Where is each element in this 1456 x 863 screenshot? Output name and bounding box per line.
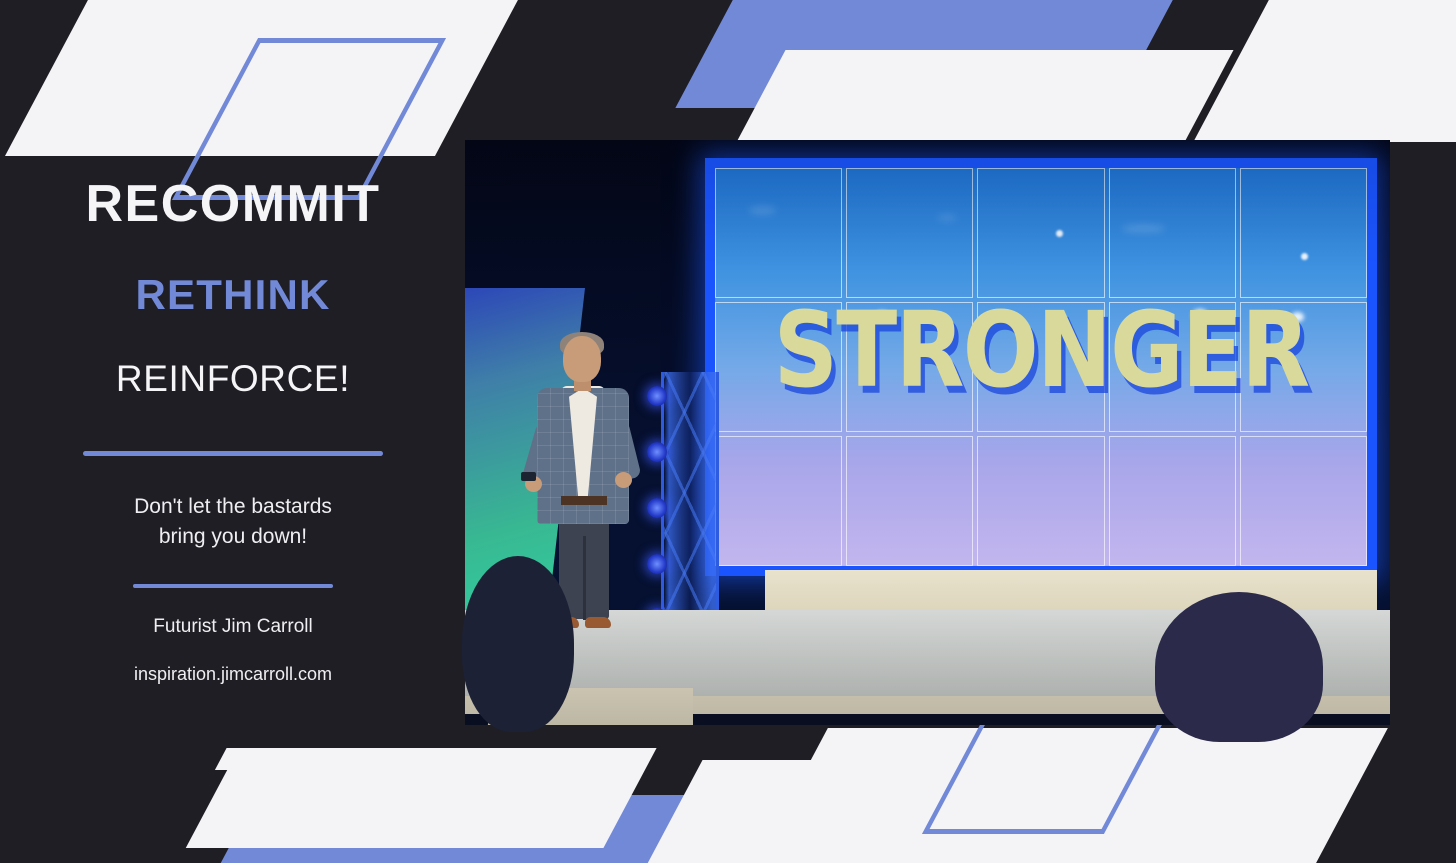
byline-futurist-jim-carroll: Futurist Jim Carroll bbox=[153, 616, 312, 638]
led-panel-cell bbox=[846, 302, 973, 432]
speaker-head bbox=[563, 336, 601, 382]
stage-light-flare bbox=[1291, 312, 1304, 322]
led-panel-cell bbox=[1240, 168, 1367, 298]
quote-block: Don't let the bastards bring you down! bbox=[134, 492, 332, 553]
audience-head-right bbox=[1155, 592, 1323, 742]
led-panel-cell bbox=[715, 436, 842, 566]
light-dot bbox=[1056, 230, 1063, 237]
led-panel-cell bbox=[846, 436, 973, 566]
quote-line-1: Don't let the bastards bbox=[134, 492, 332, 522]
stage-light-flare bbox=[875, 311, 889, 321]
led-panel-cell bbox=[1109, 302, 1236, 432]
speaker-belt bbox=[561, 496, 607, 505]
decor-parallelogram-top-right-white bbox=[734, 50, 1233, 146]
led-video-wall: STRONGER bbox=[705, 158, 1377, 576]
led-panel-cell bbox=[715, 302, 842, 432]
led-panel-cell bbox=[1240, 302, 1367, 432]
headline-line-recommit: RECOMMIT bbox=[40, 178, 426, 230]
headline-line-rethink: RETHINK bbox=[40, 274, 426, 316]
led-panel-cell bbox=[977, 302, 1104, 432]
cloud-wisp bbox=[749, 207, 777, 213]
led-panel-cell bbox=[1109, 436, 1236, 566]
slide-canvas: STRONGER bbox=[0, 0, 1456, 863]
decor-parallelogram-top-right-white-2 bbox=[1193, 0, 1456, 142]
led-panel-cell bbox=[846, 168, 973, 298]
led-panel-cell bbox=[1109, 168, 1236, 298]
led-panel-cell bbox=[715, 168, 842, 298]
text-panel: RECOMMIT RETHINK REINFORCE! Don't let th… bbox=[0, 0, 466, 863]
speaker-shoe-right bbox=[585, 617, 611, 628]
headline-block: RECOMMIT RETHINK REINFORCE! bbox=[40, 178, 426, 397]
quote-line-2: bring you down! bbox=[134, 522, 332, 552]
presentation-clicker bbox=[521, 472, 536, 481]
stage-light-flare bbox=[1192, 309, 1208, 321]
cloud-wisp bbox=[937, 215, 957, 220]
divider-rule-narrow bbox=[133, 584, 333, 588]
led-panel-cell bbox=[977, 436, 1104, 566]
light-dot bbox=[1301, 253, 1308, 260]
speaker-leg-seam bbox=[583, 536, 586, 620]
website-url[interactable]: inspiration.jimcarroll.com bbox=[134, 664, 332, 685]
led-panel-cell bbox=[1240, 436, 1367, 566]
divider-rule-wide bbox=[83, 451, 383, 456]
speaker-hand-right bbox=[615, 472, 632, 488]
cloud-wisp bbox=[1122, 225, 1165, 231]
audience-head-left bbox=[462, 556, 574, 732]
led-wall-grid bbox=[715, 168, 1367, 566]
led-panel-cell bbox=[977, 168, 1104, 298]
headline-line-reinforce: REINFORCE! bbox=[40, 360, 426, 397]
